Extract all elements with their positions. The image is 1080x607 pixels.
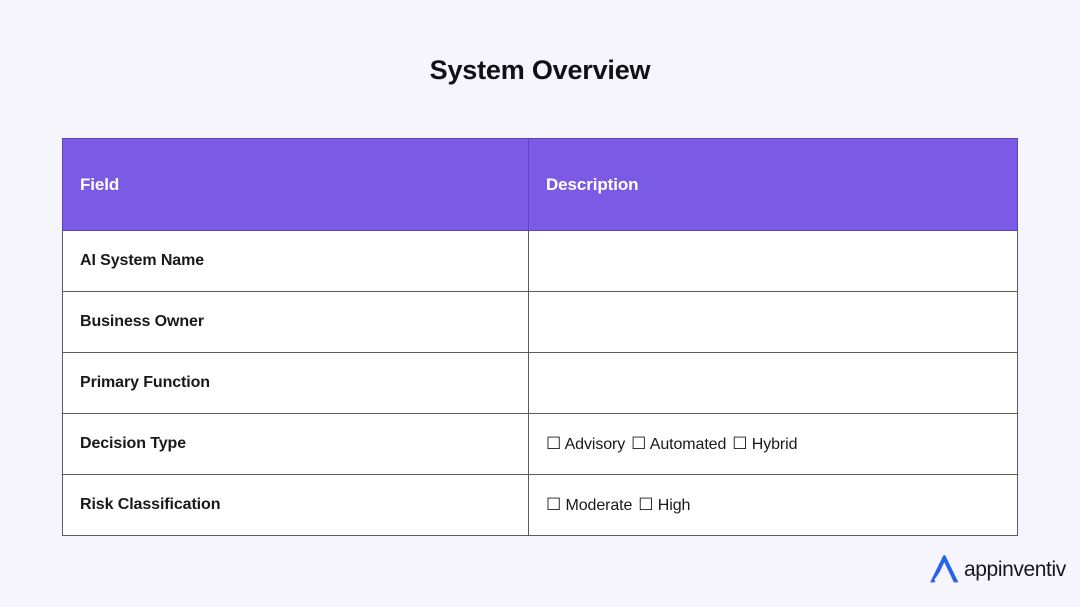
system-overview-table: Field Description AI System Name Busines… — [62, 138, 1018, 536]
checkbox-empty-icon[interactable]: ☐ — [638, 495, 653, 514]
page-title: System Overview — [0, 52, 1080, 88]
row-value-risk-classification: ☐ Moderate☐ High — [529, 475, 1018, 536]
checkbox-label-moderate: Moderate — [566, 497, 633, 514]
checkbox-label-hybrid: Hybrid — [752, 436, 798, 453]
row-label-risk-classification: Risk Classification — [63, 475, 529, 536]
checkbox-option-high[interactable]: ☐ High — [638, 497, 690, 514]
row-label-decision-type: Decision Type — [63, 414, 529, 475]
checkbox-option-moderate[interactable]: ☐ Moderate — [546, 497, 632, 514]
checkbox-label-high: High — [658, 497, 691, 514]
column-header-field: Field — [63, 139, 529, 231]
slide-canvas: System Overview Field Description AI Sys… — [0, 0, 1080, 607]
checkbox-empty-icon[interactable]: ☐ — [732, 434, 747, 453]
checkbox-empty-icon[interactable]: ☐ — [546, 495, 561, 514]
table-row: AI System Name — [63, 231, 1018, 292]
appinventiv-logo: appinventiv — [927, 551, 1066, 587]
row-value-ai-system-name[interactable] — [529, 231, 1018, 292]
column-header-description: Description — [529, 139, 1018, 231]
system-overview-table-wrapper: Field Description AI System Name Busines… — [62, 138, 1017, 536]
row-label-business-owner: Business Owner — [63, 292, 529, 353]
row-value-business-owner[interactable] — [529, 292, 1018, 353]
checkbox-option-advisory[interactable]: ☐ Advisory — [546, 436, 625, 453]
checkbox-empty-icon[interactable]: ☐ — [631, 434, 646, 453]
table-body: AI System Name Business Owner Primary Fu… — [63, 231, 1018, 536]
checkbox-option-hybrid[interactable]: ☐ Hybrid — [732, 436, 797, 453]
row-label-ai-system-name: AI System Name — [63, 231, 529, 292]
table-row: Decision Type ☐ Advisory☐ Automated☐ Hyb… — [63, 414, 1018, 475]
checkbox-option-automated[interactable]: ☐ Automated — [631, 436, 726, 453]
row-value-primary-function[interactable] — [529, 353, 1018, 414]
checkbox-empty-icon[interactable]: ☐ — [546, 434, 561, 453]
checkbox-label-automated: Automated — [650, 436, 726, 453]
table-row: Primary Function — [63, 353, 1018, 414]
checkbox-label-advisory: Advisory — [565, 436, 626, 453]
table-header-row: Field Description — [63, 139, 1018, 231]
appinventiv-wordmark: appinventiv — [964, 559, 1066, 580]
table-header: Field Description — [63, 139, 1018, 231]
appinventiv-a-mark-icon — [927, 552, 961, 586]
table-row: Risk Classification ☐ Moderate☐ High — [63, 475, 1018, 536]
row-label-primary-function: Primary Function — [63, 353, 529, 414]
table-row: Business Owner — [63, 292, 1018, 353]
row-value-decision-type: ☐ Advisory☐ Automated☐ Hybrid — [529, 414, 1018, 475]
